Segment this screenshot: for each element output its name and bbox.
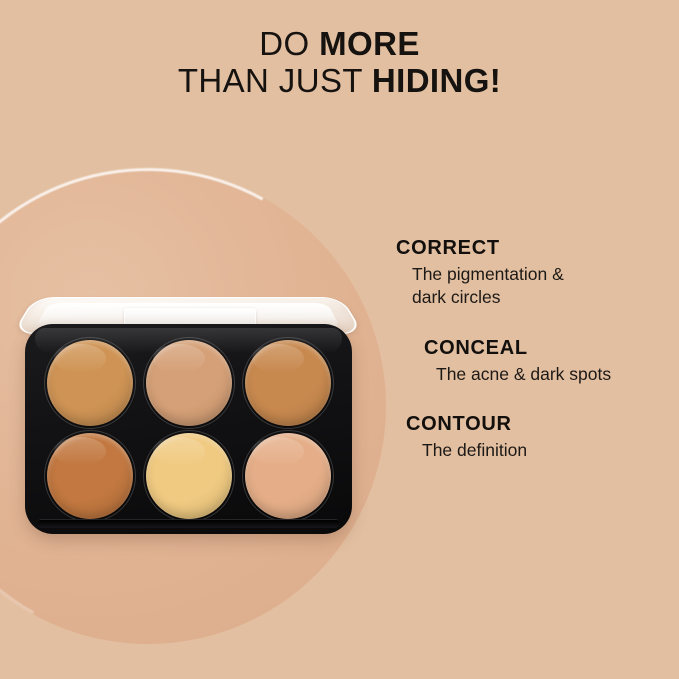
pan-slot-5	[142, 431, 235, 520]
benefit-contour-title: CONTOUR	[406, 412, 679, 437]
headline-line-2: THAN JUST HIDING!	[0, 63, 679, 100]
palette-base-tray	[25, 324, 352, 534]
benefit-correct-desc-line-2: dark circles	[412, 287, 501, 307]
pan-slot-1	[43, 338, 136, 427]
pan-rim	[242, 430, 334, 522]
palette-base-front-lip	[37, 519, 340, 528]
headline-line-1-light: DO	[259, 25, 319, 62]
benefit-correct-desc-line-1: The pigmentation &	[412, 264, 564, 284]
headline-line-2-light: THAN JUST	[178, 62, 372, 99]
headline: DO MORE THAN JUST HIDING!	[0, 26, 679, 100]
pan-rim	[44, 430, 136, 522]
pan-shade-bottom-center	[146, 433, 232, 519]
pan-shade-bottom-left	[47, 433, 133, 519]
concealer-palette-product	[0, 246, 380, 546]
pan-rim	[143, 337, 235, 429]
pan-shade-top-right	[245, 340, 331, 426]
benefit-conceal-description: The acne & dark spots	[436, 363, 679, 386]
pan-shade-top-center	[146, 340, 232, 426]
benefit-conceal-title: CONCEAL	[424, 336, 679, 361]
benefit-correct: CORRECT The pigmentation & dark circles	[380, 236, 679, 310]
benefit-conceal: CONCEAL The acne & dark spots	[380, 336, 679, 386]
headline-line-1-bold: MORE	[319, 25, 420, 62]
pan-shade-bottom-right	[245, 433, 331, 519]
pan-slot-6	[241, 431, 334, 520]
pan-slot-2	[142, 338, 235, 427]
headline-line-2-bold: HIDING!	[372, 62, 501, 99]
benefit-contour: CONTOUR The definition	[380, 412, 679, 462]
pan-rim	[143, 430, 235, 522]
headline-line-1: DO MORE	[0, 26, 679, 63]
pan-slot-3	[241, 338, 334, 427]
product-banner: DO MORE THAN JUST HIDING!	[0, 0, 679, 679]
pan-rim	[44, 337, 136, 429]
pan-rim	[242, 337, 334, 429]
benefit-contour-description: The definition	[422, 439, 679, 462]
benefit-correct-title: CORRECT	[396, 236, 679, 261]
benefit-correct-description: The pigmentation & dark circles	[412, 263, 679, 310]
benefit-list: CORRECT The pigmentation & dark circles …	[380, 236, 679, 488]
palette-pan-grid	[43, 338, 334, 520]
pan-shade-top-left	[47, 340, 133, 426]
pan-slot-4	[43, 431, 136, 520]
